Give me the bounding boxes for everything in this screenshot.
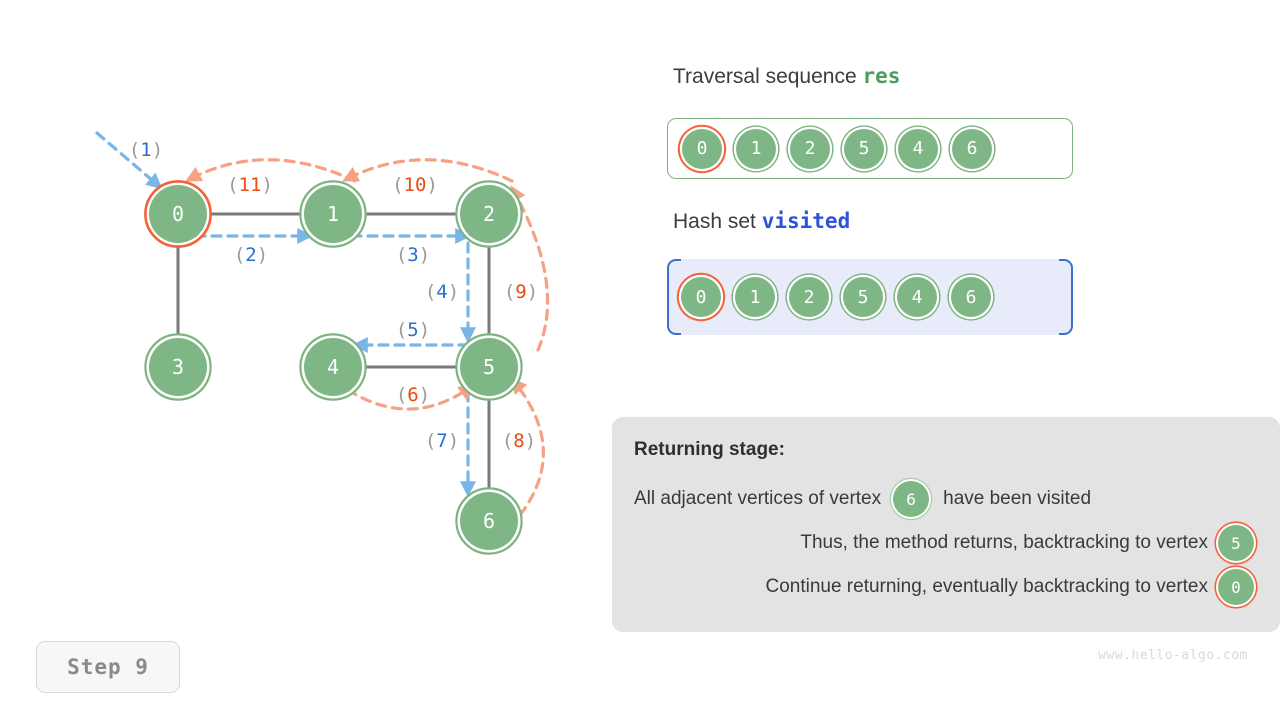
visited-item-2[interactable]: 2 <box>789 277 829 317</box>
returning-stage-box: Returning stage: All adjacent vertices o… <box>612 417 1280 632</box>
graph-node-2-label: 2 <box>483 202 495 226</box>
slide-canvas: 0 1 2 3 <box>0 0 1280 720</box>
graph-node-0[interactable]: 0 <box>145 181 210 246</box>
line3-text: Continue returning, eventually backtrack… <box>765 576 1208 598</box>
returning-stage-line-3: Continue returning, eventually backtrack… <box>634 565 1254 609</box>
res-item-4[interactable]: 4 <box>898 129 938 169</box>
watermark: www.hello-algo.com <box>1098 648 1248 663</box>
graph-diagram: 0 1 2 3 <box>0 0 640 620</box>
visited-item-3[interactable]: 5 <box>843 277 883 317</box>
visited-item-2-label: 2 <box>804 287 815 308</box>
step-label-11: (11) <box>227 174 273 196</box>
line3-vertex-chip[interactable]: 0 <box>1218 569 1254 605</box>
res-title-prefix: Traversal sequence <box>673 65 857 88</box>
res-item-3[interactable]: 5 <box>844 129 884 169</box>
line1-tail-text: have been visited <box>943 488 1091 510</box>
step-label-5: (5) <box>396 319 430 341</box>
graph-node-5-label: 5 <box>483 355 495 379</box>
visited-bracket-left <box>667 259 681 335</box>
visited-bracket-right <box>1059 259 1073 335</box>
visited-set-box: 0 1 2 5 4 6 <box>667 259 1073 335</box>
step-label-10: (10) <box>392 174 438 196</box>
graph-node-1-label: 1 <box>327 202 339 226</box>
res-item-0[interactable]: 0 <box>682 129 722 169</box>
step-label-4: (4) <box>425 281 459 303</box>
step-label-1: (1) <box>129 139 163 161</box>
res-sequence-box: 0 1 2 5 4 6 <box>667 118 1073 179</box>
visited-item-4-label: 4 <box>912 287 923 308</box>
graph-node-4-label: 4 <box>327 355 339 379</box>
res-variable-name: res <box>863 64 901 88</box>
step-label-9: (9) <box>504 281 538 303</box>
graph-node-6[interactable]: 6 <box>456 488 521 553</box>
returning-stage-heading: Returning stage: <box>634 439 1254 461</box>
line1-text: All adjacent vertices of vertex <box>634 488 881 510</box>
res-item-5[interactable]: 6 <box>952 129 992 169</box>
visited-item-4[interactable]: 4 <box>897 277 937 317</box>
res-item-3-label: 5 <box>859 138 870 159</box>
res-item-1[interactable]: 1 <box>736 129 776 169</box>
graph-node-3[interactable]: 3 <box>145 334 210 399</box>
graph-node-2[interactable]: 2 <box>456 181 521 246</box>
graph-node-0-label: 0 <box>172 202 184 226</box>
visited-item-1[interactable]: 1 <box>735 277 775 317</box>
line2-vertex-chip[interactable]: 5 <box>1218 525 1254 561</box>
res-item-2-label: 2 <box>805 138 816 159</box>
res-item-4-label: 4 <box>913 138 924 159</box>
line2-vertex-chip-label: 5 <box>1231 534 1241 553</box>
step-label-7: (7) <box>425 430 459 452</box>
line1-vertex-chip[interactable]: 6 <box>893 481 929 517</box>
graph-node-1[interactable]: 1 <box>300 181 365 246</box>
visited-item-0[interactable]: 0 <box>681 277 721 317</box>
res-item-2[interactable]: 2 <box>790 129 830 169</box>
res-item-5-label: 6 <box>967 138 978 159</box>
graph-node-4[interactable]: 4 <box>300 334 365 399</box>
visited-variable-name: visited <box>762 209 851 233</box>
res-panel-title: Traversal sequence res <box>673 64 900 89</box>
visited-item-0-label: 0 <box>696 287 707 308</box>
step-label-3: (3) <box>396 244 430 266</box>
visited-item-1-label: 1 <box>750 287 761 308</box>
line2-text: Thus, the method returns, backtracking t… <box>800 532 1208 554</box>
res-item-1-label: 1 <box>751 138 762 159</box>
returning-stage-line-1: All adjacent vertices of vertex 6 have b… <box>634 477 1254 521</box>
visited-item-3-label: 5 <box>858 287 869 308</box>
visited-item-5-label: 6 <box>966 287 977 308</box>
step-label-2: (2) <box>234 244 268 266</box>
step-label-8: (8) <box>502 430 536 452</box>
line1-vertex-chip-label: 6 <box>906 490 916 509</box>
graph-node-6-label: 6 <box>483 509 495 533</box>
step-label-6: (6) <box>396 384 430 406</box>
line3-vertex-chip-label: 0 <box>1231 578 1241 597</box>
visited-title-prefix: Hash set <box>673 210 756 233</box>
visited-panel-title: Hash set visited <box>673 209 850 234</box>
graph-node-3-label: 3 <box>172 355 184 379</box>
graph-node-5[interactable]: 5 <box>456 334 521 399</box>
returning-stage-line-2: Thus, the method returns, backtracking t… <box>634 521 1254 565</box>
visited-item-5[interactable]: 6 <box>951 277 991 317</box>
res-item-0-label: 0 <box>697 138 708 159</box>
step-badge: Step 9 <box>36 641 180 693</box>
graph-vertices: 0 1 2 3 <box>145 181 521 553</box>
